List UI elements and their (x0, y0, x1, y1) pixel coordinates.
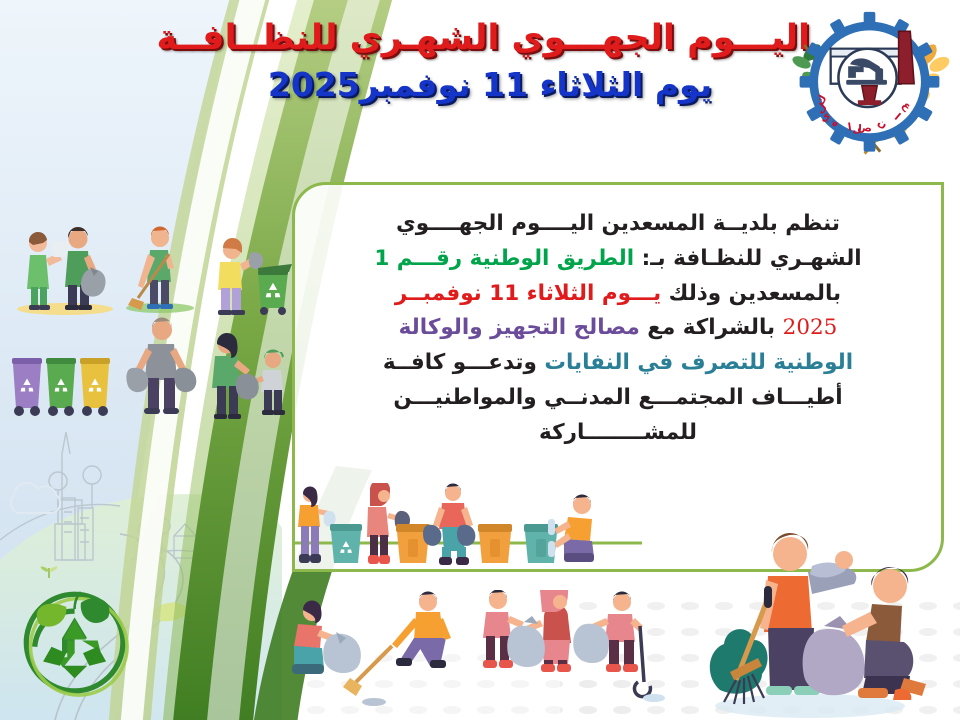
text-segment: للمشــــــــاركة (539, 420, 697, 445)
text-segment-highlight-road: الطريق الوطنية رقـــم 1 (374, 246, 634, 271)
text-segment-highlight-partner: مصالح التجهيز والوكالة (399, 315, 640, 340)
illustration-volunteers-pair-bags (10, 215, 130, 315)
illustration-woman-child-bag (205, 320, 300, 425)
text-line-3: بالمسعدين وذلك يـــوم الثلاثاء 11 نوفمبـ… (321, 277, 915, 312)
text-segment: تنظم بلديــة المسعدين اليــــوم الجهــــ… (396, 211, 840, 236)
text-segment: الشهـري للنظـافة بـ: (642, 246, 862, 271)
text-line-2: الشهـري للنظـافة بـ: الطريق الوطنية رقــ… (321, 242, 915, 277)
illustration-woman-green-bin (208, 222, 296, 322)
text-segment: بالشراكة مع (640, 315, 775, 340)
illustration-three-colored-bins (8, 340, 118, 425)
illustration-cleanup-crew-bottom (288, 590, 668, 720)
illustration-bins-row-volunteers (292, 483, 642, 593)
illustration-rake-man-kneeling-woman (690, 520, 940, 720)
municipality-logo-icon: ك ل ي ة ا ل ص ن ا ع (787, 6, 952, 176)
poster-title: اليـــوم الجهـــوي الشهـري للنظــافــة (170, 18, 810, 58)
text-line-6: أطيـــاف المجتمـــع المدنــي والمواطنيــ… (321, 381, 915, 416)
text-segment: وتدعـــو كافــة (383, 350, 537, 375)
text-line-5: الوطنية للتصرف في النفايات وتدعـــو كافـ… (321, 346, 915, 381)
text-segment: بالمسعدين وذلك (661, 281, 841, 306)
text-line-4: 2025 بالشراكة مع مصالح التجهيز والوكالة (321, 311, 915, 346)
illustration-man-sweeping-broom (120, 220, 200, 315)
text-line-1: تنظم بلديــة المسعدين اليــــوم الجهــــ… (321, 207, 915, 242)
gear-icon: ك ل ي ة ا ل ص ن ا ع (800, 12, 940, 152)
text-line-7: للمشــــــــاركة (321, 416, 915, 451)
text-segment-year: 2025 (783, 315, 838, 340)
green-wheelie-bin-icon (258, 264, 292, 315)
poster-header: اليـــوم الجهـــوي الشهـري للنظــافــة ي… (0, 0, 960, 180)
teal-bin-1-icon (330, 524, 362, 563)
orange-bin-2-icon (478, 524, 512, 563)
yellow-bin-icon (80, 358, 110, 416)
green-bin-icon (46, 358, 76, 416)
announcement-text: تنظم بلديــة المسعدين اليــــوم الجهــــ… (295, 185, 941, 461)
poster-subtitle: يوم الثلاثاء 11 نوفمبر2025 (170, 66, 810, 104)
text-segment-highlight-agency: الوطنية للتصرف في النفايات (544, 350, 853, 375)
poster-root: اليـــوم الجهـــوي الشهـري للنظــافــة ي… (0, 0, 960, 720)
purple-bin-icon (12, 358, 42, 416)
title-block: اليـــوم الجهـــوي الشهـري للنظــافــة ي… (170, 18, 810, 104)
text-segment-highlight-date: يـــوم الثلاثاء 11 نوفمبــر (395, 281, 661, 306)
text-segment: أطيـــاف المجتمـــع المدنــي والمواطنيــ… (393, 385, 842, 410)
illustration-man-two-bags (118, 310, 208, 420)
